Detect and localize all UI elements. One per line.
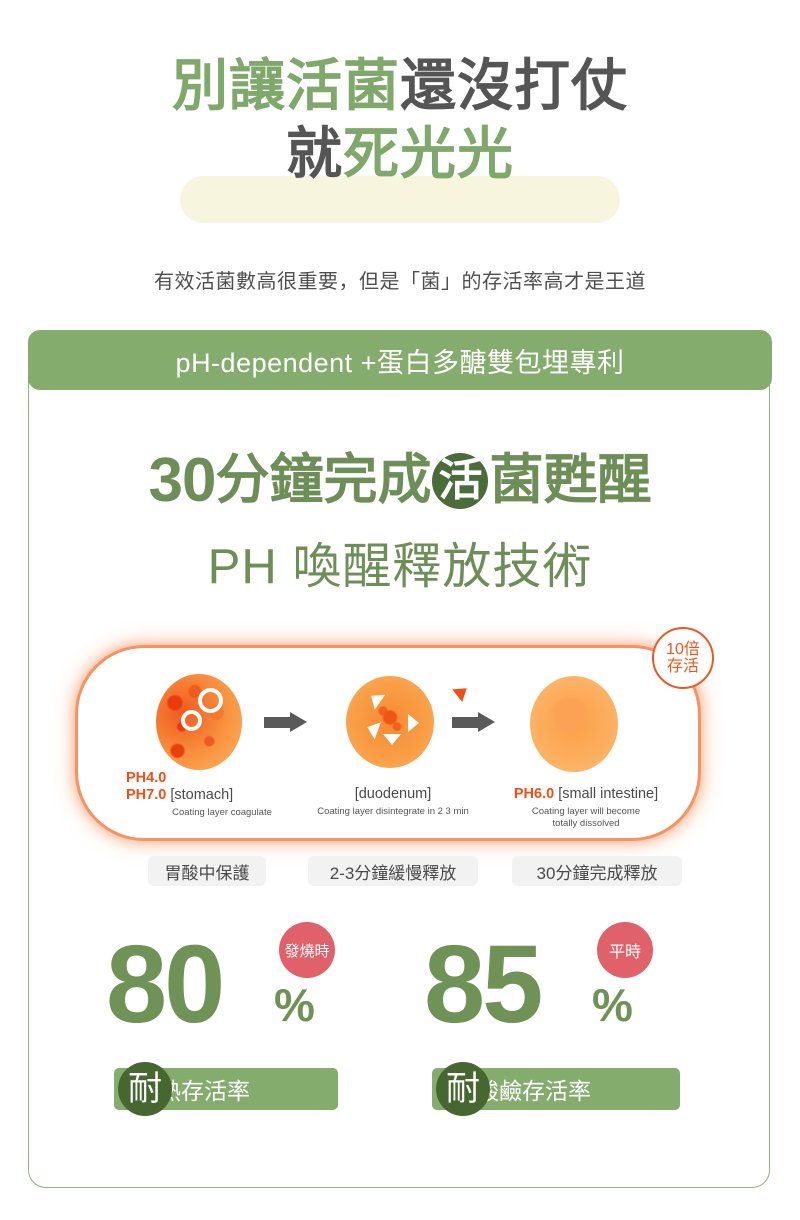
- hero-title-line-2-dark: 就: [286, 122, 343, 185]
- stat-ph-condition-badge: 平時: [597, 922, 653, 978]
- stage-3-caption-line-2: totally dissolved: [476, 818, 696, 830]
- stat-ph-bar: 耐 酸鹼存活率: [432, 1068, 680, 1110]
- stage-1-ph-a: PH4.0: [126, 770, 166, 786]
- stat-block-ph: 85 % 平時 耐 酸鹼存活率: [424, 930, 704, 1045]
- hero-title-line-1-dark: 還沒打仗: [400, 54, 628, 117]
- burst-arrow-2-icon: [408, 714, 419, 732]
- ejected-flake-icon: [452, 682, 471, 702]
- stage-2-caption: Coating layer disintegrate in 2 3 min: [278, 806, 508, 818]
- hero-title-line-1-green: 別讓活菌: [172, 54, 400, 117]
- hero-title-line-2-green: 死光光: [343, 122, 514, 185]
- stage-3-label: PH6.0 [small intestine] Coating layer wi…: [476, 786, 696, 831]
- stat-heat-value: 80: [106, 930, 222, 1040]
- heading-part-2: 菌甦醒: [489, 452, 651, 509]
- stat-ph-bar-label: 酸鹼存活率: [476, 1072, 591, 1106]
- card-main-heading-row-1: 30分鐘完成活菌甦醒: [28, 448, 772, 513]
- hero-section: 別讓活菌還沒打仗 就死光光: [0, 0, 800, 189]
- card-header-banner: pH-dependent +蛋白多醣雙包埋專利: [28, 330, 772, 390]
- stage-3-organ: [small intestine]: [558, 786, 658, 802]
- stat-ph-value: 85: [424, 930, 540, 1040]
- stat-block-heat: 80 % 發燒時 耐 熱存活率: [106, 930, 386, 1045]
- release-process-capsule: PH4.0 PH7.0 [stomach] Coating layer coag…: [78, 648, 698, 838]
- badge-10x-line-1: 10倍: [666, 641, 700, 658]
- process-tag-1: 胃酸中保護: [148, 856, 266, 886]
- badge-10x-survival: 10倍 存活: [652, 627, 714, 689]
- card-main-heading-row-2: PH 喚醒釋放技術: [28, 527, 772, 598]
- card-main-heading: 30分鐘完成活菌甦醒 PH 喚醒釋放技術: [28, 448, 772, 598]
- process-tag-2: 2-3分鐘緩慢釋放: [308, 856, 478, 886]
- survival-stats-section: 80 % 發燒時 耐 熱存活率 85 % 平時 耐 酸鹼存活率: [28, 930, 772, 1145]
- arrow-right-1-icon: [264, 712, 310, 732]
- hero-title-line-1: 別讓活菌還沒打仗: [0, 52, 800, 120]
- heading-number-30: 30: [149, 448, 216, 513]
- badge-10x-line-2: 存活: [667, 658, 699, 675]
- hero-title-line-2: 就死光光: [0, 120, 800, 188]
- process-tag-row: 胃酸中保護 2-3分鐘緩慢釋放 30分鐘完成釋放: [140, 856, 680, 886]
- heading-badge-char-huo: 活: [432, 453, 488, 509]
- stage-1-organ: [stomach]: [170, 787, 233, 803]
- stat-ph-nai-icon: 耐: [436, 1062, 490, 1116]
- stat-ph-percent-sign: %: [592, 982, 633, 1028]
- stat-heat-bar: 耐 熱存活率: [114, 1068, 338, 1110]
- heading-part-1: 分鐘完成: [215, 452, 431, 509]
- hero-subtitle: 有效活菌數高很重要，但是「菌」的存活率高才是王道: [0, 265, 800, 294]
- stage-1-bubble-ring-a-icon: [198, 688, 223, 713]
- stage-3-particle-icon: [530, 676, 618, 772]
- stage-3-ph: PH6.0: [514, 786, 554, 802]
- stage-2-organ: [duodenum]: [278, 786, 508, 803]
- process-tag-3: 30分鐘完成釋放: [512, 856, 682, 886]
- stat-heat-percent-sign: %: [274, 982, 315, 1028]
- stage-3-caption-line-1: Coating layer will become: [476, 806, 696, 818]
- stat-heat-condition-badge: 發燒時: [279, 922, 335, 978]
- stage-2-particle-icon: [346, 676, 434, 768]
- stage-2-label: [duodenum] Coating layer disintegrate in…: [278, 786, 508, 818]
- stage-1-bubble-ring-b-icon: [181, 710, 202, 731]
- arrow-right-2-icon: [452, 712, 498, 732]
- burst-arrow-4-icon: [383, 734, 401, 745]
- stage-1-ph-b: PH7.0: [126, 787, 166, 803]
- stat-heat-nai-icon: 耐: [118, 1062, 172, 1116]
